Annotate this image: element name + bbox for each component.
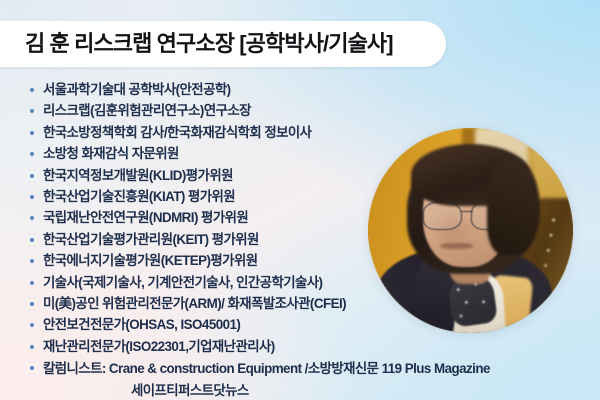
- bullet-icon: [30, 323, 34, 327]
- list-item: 국립재난안전연구원(NDMRI) 평가위원: [28, 207, 588, 228]
- list-item: 기술사(국제기술사, 기계안전기술사, 인간공학기술사): [28, 272, 588, 293]
- list-item-label: 재난관리전문가(ISO22301,기업재난관리사): [43, 339, 275, 354]
- list-item: 한국산업기술평가관리원(KEIT) 평가위원: [28, 229, 588, 250]
- bullet-icon: [30, 195, 34, 199]
- title-pill: 김 훈 리스크랩 연구소장 [공학박사/기술사]: [0, 21, 446, 67]
- list-item-label: 한국에너지기술평가원(KETEP)평가위원: [43, 253, 257, 268]
- bullet-icon: [30, 281, 34, 285]
- list-item: 칼럼니스트: Crane & construction Equipment /소…: [28, 357, 588, 380]
- list-item-label: 리스크랩(김훈위험관리연구소)연구소장: [43, 103, 251, 118]
- bullet-icon: [30, 174, 34, 178]
- list-item-label: 한국소방정책학회 감사/한국화재감식학회 정보이사: [43, 125, 311, 140]
- credentials-list: 서울과학기술대 공학박사(안전공학) 리스크랩(김훈위험관리연구소)연구소장 한…: [28, 79, 588, 400]
- list-item-label: 기술사(국제기술사, 기계안전기술사, 인간공학기술사): [43, 275, 322, 290]
- page-title: 김 훈 리스크랩 연구소장 [공학박사/기술사]: [25, 33, 393, 55]
- bullet-icon: [30, 345, 34, 349]
- list-item-label: 미(美)공인 위험관리전문가(ARM)/ 화재폭발조사관(CFEI): [43, 296, 346, 311]
- list-item: 한국에너지기술평가원(KETEP)평가위원: [28, 250, 588, 271]
- list-item: 서울과학기술대 공학박사(안전공학): [28, 79, 588, 100]
- bullet-icon: [30, 238, 34, 242]
- bullet-icon: [30, 302, 34, 306]
- list-item-label: 칼럼니스트: Crane & construction Equipment /소…: [43, 361, 490, 376]
- bullet-icon: [30, 109, 34, 113]
- list-item: 재난관리전문가(ISO22301,기업재난관리사): [28, 336, 588, 357]
- list-item-label: 소방청 화재감식 자문위원: [43, 146, 179, 161]
- profile-card: 김 훈 리스크랩 연구소장 [공학박사/기술사] 서울과학기술대 공학박사(안전…: [0, 0, 600, 400]
- list-item: 한국소방정책학회 감사/한국화재감식학회 정보이사: [28, 122, 588, 143]
- list-item-label: 한국산업기술평가관리원(KEIT) 평가위원: [43, 232, 259, 247]
- bullet-icon: [30, 152, 34, 156]
- list-item-label: 국립재난안전연구원(NDMRI) 평가위원: [43, 210, 248, 225]
- bullet-icon: [30, 131, 34, 135]
- bullet-icon: [30, 216, 34, 220]
- bullet-icon: [30, 366, 34, 370]
- list-item: 안전보건전문가(OHSAS, ISO45001): [28, 314, 588, 335]
- list-item: 한국산업기술진흥원(KIAT) 평가위원: [28, 186, 588, 207]
- list-item: 한국지역정보개발원(KLID)평가위원: [28, 165, 588, 186]
- list-item: 리스크랩(김훈위험관리연구소)연구소장: [28, 100, 588, 121]
- list-item-label: 안전보건전문가(OHSAS, ISO45001): [43, 317, 240, 332]
- list-item-continuation: 세이프티퍼스트닷뉴스: [28, 380, 588, 400]
- bullet-icon: [30, 88, 34, 92]
- list-item-label: 한국산업기술진흥원(KIAT) 평가위원: [43, 189, 235, 204]
- list-item-label: 세이프티퍼스트닷뉴스: [131, 383, 249, 398]
- bullet-icon: [30, 259, 34, 263]
- list-item: 미(美)공인 위험관리전문가(ARM)/ 화재폭발조사관(CFEI): [28, 293, 588, 314]
- list-item-label: 서울과학기술대 공학박사(안전공학): [43, 82, 231, 97]
- list-item-label: 한국지역정보개발원(KLID)평가위원: [43, 168, 233, 183]
- list-item: 소방청 화재감식 자문위원: [28, 143, 588, 164]
